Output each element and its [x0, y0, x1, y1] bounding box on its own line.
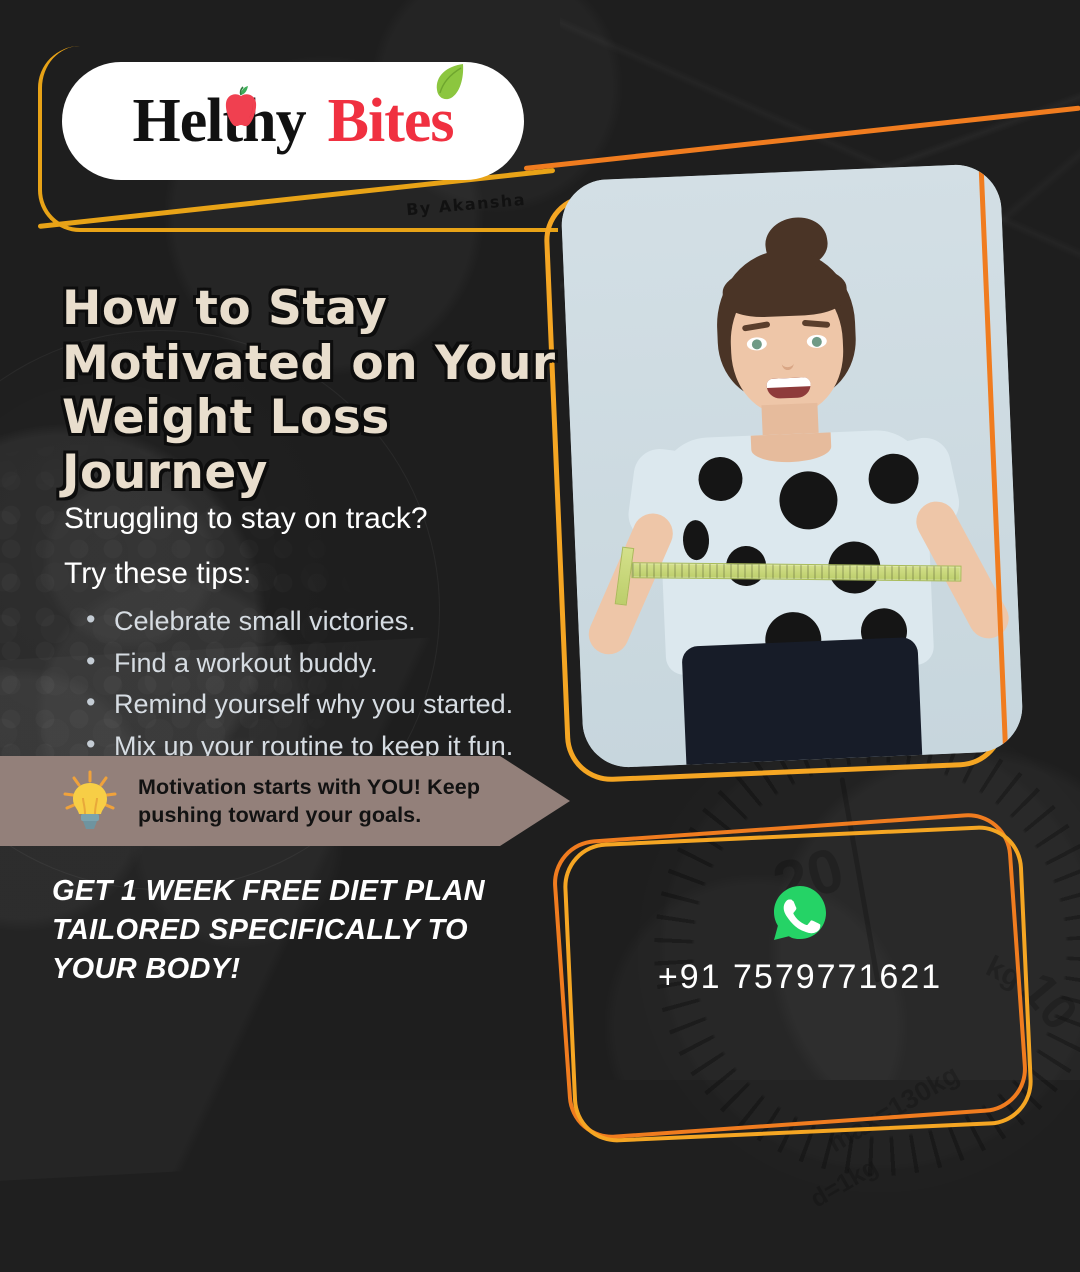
apple-icon [221, 84, 261, 128]
logo-text-healthy-part1: He [133, 90, 207, 152]
tips-list: Celebrate small victories. Find a workou… [78, 604, 598, 771]
page-title: How to Stay Motivated on Your Weight Los… [62, 282, 582, 500]
brand-logo[interactable]: He lthy Bites By Akansha [62, 62, 524, 180]
headline-line-1: How to Stay [62, 282, 582, 337]
cta-line-3: YOUR BODY! [52, 950, 522, 989]
subhead: Struggling to stay on track? Try these t… [64, 496, 564, 596]
dark-jeans [681, 637, 923, 769]
measuring-tape [631, 562, 961, 581]
whatsapp-icon[interactable] [771, 884, 829, 942]
leaf-icon [433, 62, 467, 102]
banner-line-2: pushing toward your goals. [138, 801, 480, 829]
woman-measuring-waist-photo [560, 163, 1024, 769]
subhead-line-2: Try these tips: [64, 551, 564, 596]
headline-line-2: Motivated on Your [62, 337, 582, 392]
list-item: Find a workout buddy. [78, 646, 598, 682]
logo-inner: He lthy Bites [133, 90, 454, 152]
cta-offer-text: GET 1 WEEK FREE DIET PLAN TAILORED SPECI… [52, 872, 522, 989]
teeth [766, 377, 810, 388]
contact-block[interactable]: +91 7579771621 [620, 884, 980, 997]
banner-line-1: Motivation starts with YOU! Keep [138, 773, 480, 801]
banner-text: Motivation starts with YOU! Keep pushing… [138, 773, 480, 830]
cta-line-1: GET 1 WEEK FREE DIET PLAN [52, 872, 522, 911]
list-item: Remind yourself why you started. [78, 687, 598, 723]
whatsapp-phone-number[interactable]: +91 7579771621 [658, 958, 942, 997]
list-item: Celebrate small victories. [78, 604, 598, 640]
subhead-line-1: Struggling to stay on track? [64, 496, 564, 541]
cta-line-2: TAILORED SPECIFICALLY TO [52, 911, 522, 950]
photo-frame [560, 163, 1024, 769]
lightbulb-icon [62, 770, 118, 832]
motivation-banner: Motivation starts with YOU! Keep pushing… [0, 756, 570, 846]
headline-line-3: Weight Loss Journey [62, 391, 582, 500]
